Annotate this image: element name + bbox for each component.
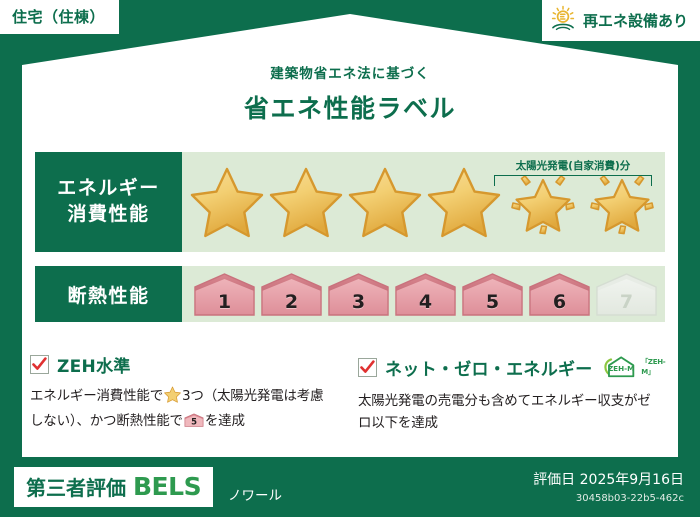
energy-performance-label: 住宅（住棟） 再エネ設備あり 建築	[0, 0, 700, 517]
energy-performance-stars-area: 太陽光発電(自家消費)分	[182, 152, 665, 252]
footer-meta: 評価日 2025年9月16日 30458b03-22b5-462c	[533, 469, 684, 504]
zeh-m-logo: ZEH-M 「ZEH-M」	[601, 352, 673, 382]
renewable-equipment-label: 再エネ設備あり	[583, 10, 688, 31]
insulation-levels-area: 1 2 3	[182, 266, 665, 322]
heading-subtitle: 建築物省エネ法に基づく	[0, 62, 700, 82]
insulation-level-inline-badge: 5	[184, 412, 204, 436]
bels-badge: 第三者評価 BELS	[14, 467, 213, 507]
star-icon	[424, 152, 503, 252]
insulation-level-badge: 2	[259, 271, 324, 317]
energy-label-line1: エネルギー	[57, 176, 160, 202]
renewable-equipment-tag: 再エネ設備あり	[542, 0, 700, 41]
net-zero-energy-body: 太陽光発電の売電分も含めてエネルギー収支がゼロ以下を達成	[358, 391, 663, 435]
insulation-performance-label-block: 断熱性能	[35, 266, 182, 322]
star-icon	[164, 386, 181, 411]
energy-performance-row: エネルギー 消費性能 太陽光発電(自家消費)分	[35, 152, 665, 252]
insulation-level-number: 5	[486, 291, 499, 317]
zeh-standard-title: ZEH水準	[57, 352, 131, 377]
star-icon	[267, 152, 346, 252]
net-zero-energy-title: ネット・ゼロ・エネルギー	[385, 355, 593, 380]
label-heading: 建築物省エネ法に基づく 省エネ性能ラベル	[0, 62, 700, 125]
star-rating-group	[188, 152, 661, 252]
shining-star-icon	[503, 152, 582, 252]
insulation-level-number: 3	[352, 291, 365, 317]
insulation-level-badge: 5	[460, 271, 525, 317]
insulation-performance-row: 断熱性能	[35, 266, 665, 322]
zeh-standard-body: エネルギー消費性能で3つ（太陽光発電は考慮しない）、かつ断熱性能で5を達成	[30, 386, 330, 436]
zeh-body-text-part3: を達成	[205, 413, 245, 429]
insulation-level-badge: 1	[192, 271, 257, 317]
zeh-body-text-part1: エネルギー消費性能で	[30, 388, 163, 404]
insulation-level-number: 2	[285, 291, 298, 317]
label-footer: 第三者評価 BELS ノワール 評価日 2025年9月16日 30458b03-…	[0, 457, 700, 517]
insulation-level-badge: 6	[527, 271, 592, 317]
energy-performance-label-block: エネルギー 消費性能	[35, 152, 182, 252]
net-zero-energy-note: ネット・ゼロ・エネルギー ZEH-M 「ZEH-M」 太陽光発電の売電分も含めて…	[358, 352, 663, 435]
certificate-id: 30458b03-22b5-462c	[533, 493, 684, 504]
energy-label-line2: 消費性能	[67, 202, 149, 228]
building-type-tag: 住宅（住棟）	[0, 0, 119, 34]
insulation-level-badge: 4	[393, 271, 458, 317]
heading-title: 省エネ性能ラベル	[0, 89, 700, 125]
zeh-standard-header: ZEH水準	[30, 352, 330, 377]
insulation-level-number: 4	[419, 291, 432, 317]
building-type-label: 住宅（住棟）	[12, 8, 105, 26]
star-icon	[346, 152, 425, 252]
insulation-label: 断熱性能	[67, 281, 149, 308]
insulation-level-badge: 3	[326, 271, 391, 317]
zeh-m-logo-caption: 「ZEH-M」	[641, 357, 673, 377]
insulation-level-number: 7	[620, 291, 633, 317]
insulation-level-number: 6	[553, 291, 566, 317]
net-zero-energy-header: ネット・ゼロ・エネルギー ZEH-M 「ZEH-M」	[358, 352, 663, 382]
check-icon	[358, 358, 377, 377]
bels-badge-en-label: BELS	[133, 472, 201, 501]
svg-text:ZEH-M: ZEH-M	[608, 364, 634, 373]
check-icon	[30, 355, 49, 374]
building-name: ノワール	[228, 484, 282, 504]
zeh-standard-note: ZEH水準 エネルギー消費性能で3つ（太陽光発電は考慮しない）、かつ断熱性能で5…	[30, 352, 330, 436]
insulation-level-group: 1 2 3	[192, 269, 659, 319]
sun-over-hill-icon	[550, 5, 576, 35]
star-icon	[188, 152, 267, 252]
insulation-level-number: 1	[218, 291, 231, 317]
svg-text:5: 5	[191, 416, 197, 426]
insulation-level-badge: 7	[594, 271, 659, 317]
evaluation-date: 評価日 2025年9月16日	[533, 469, 684, 489]
shining-star-icon	[582, 152, 661, 252]
bels-badge-jp-label: 第三者評価	[26, 472, 126, 501]
